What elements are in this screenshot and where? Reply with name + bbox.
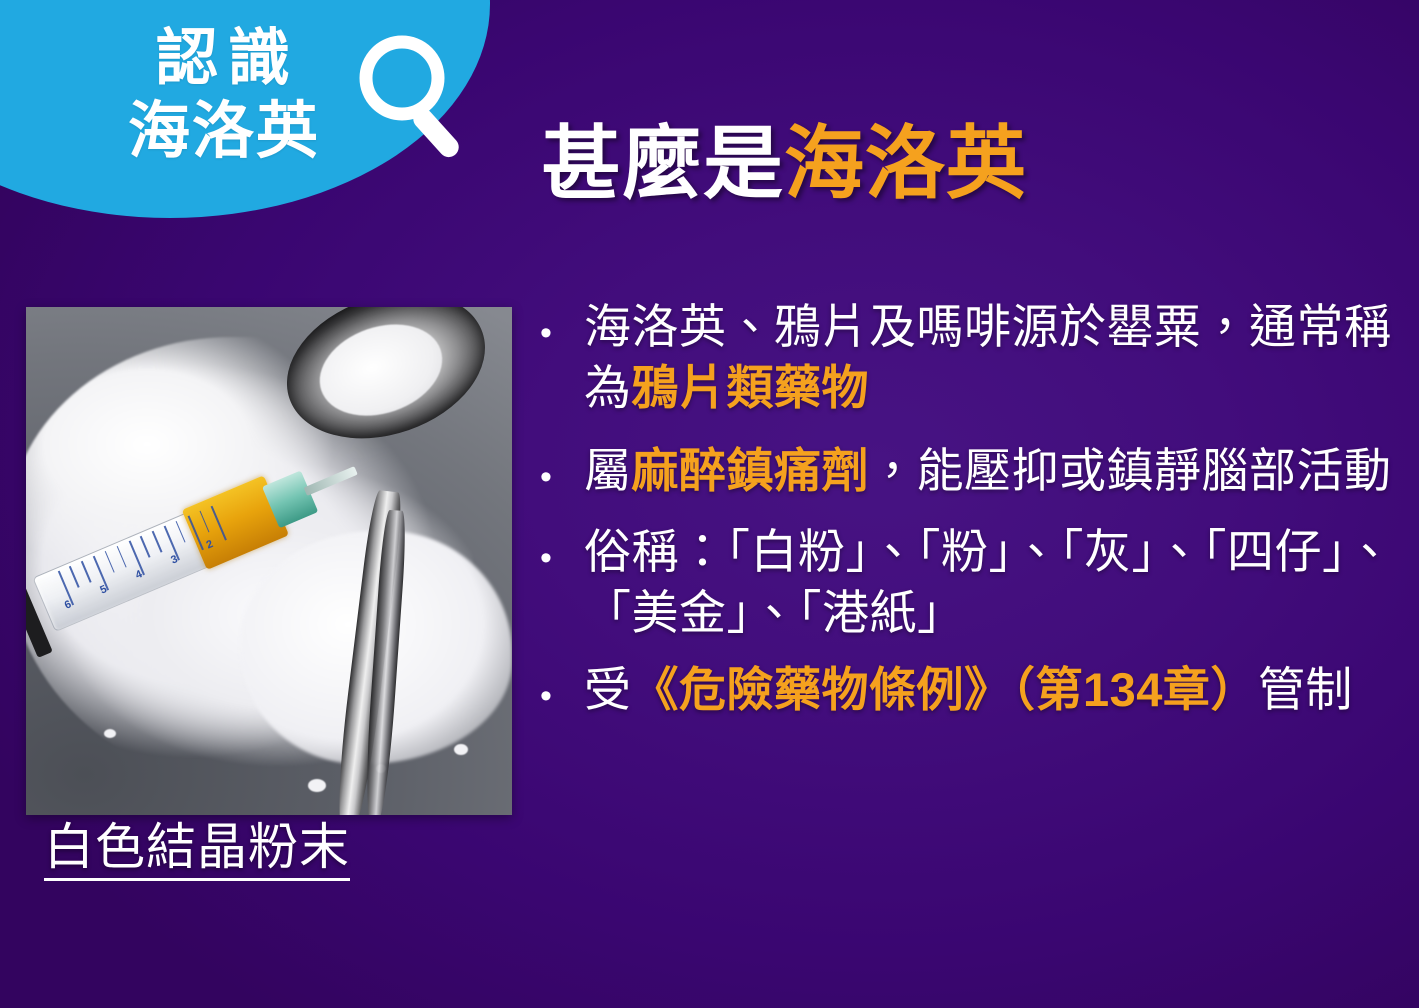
bullet-segment: 管制 xyxy=(1258,663,1353,716)
list-item: • 俗稱：「白粉」、「粉」、「灰」、「四仔」、「美金」、「港紙」 xyxy=(540,521,1402,643)
bullet-text: 俗稱：「白粉」、「粉」、「灰」、「四仔」、「美金」、「港紙」 xyxy=(584,521,1402,643)
heroin-photo: 6 5 4 3 2 xyxy=(26,307,512,815)
page-title: 甚麼是海洛英 xyxy=(541,122,1027,205)
bullet-segment: 俗稱：「白粉」、「粉」、「灰」、「四仔」、「美金」、「港紙」 xyxy=(584,525,1394,639)
bullet-marker: • xyxy=(540,296,584,350)
bullet-segment: 受 xyxy=(584,663,632,716)
badge-label-line2: 海洛英 xyxy=(104,95,344,168)
slide-root: 認識 海洛英 甚麼是海洛英 xyxy=(0,0,1419,1008)
page-title-highlight: 海洛英 xyxy=(784,119,1027,208)
magnifier-icon xyxy=(344,26,494,176)
powder-crumb xyxy=(454,744,468,755)
list-item: • 屬麻醉鎮痛劑，能壓抑或鎮靜腦部活動 xyxy=(540,440,1402,501)
bullet-segment: ，能壓抑或鎮靜腦部活動 xyxy=(869,444,1392,497)
bullet-text: 受《危險藥物條例》（第134章）管制 xyxy=(584,659,1402,720)
bullet-segment-highlight: 鴉片類藥物 xyxy=(632,361,870,414)
bullet-marker: • xyxy=(540,659,584,713)
list-item: • 受《危險藥物條例》（第134章）管制 xyxy=(540,659,1402,720)
bullet-text: 屬麻醉鎮痛劑，能壓抑或鎮靜腦部活動 xyxy=(584,440,1402,501)
badge-label: 認識 海洛英 xyxy=(104,22,344,168)
bullet-segment-highlight: 《危險藥物條例》（第134章） xyxy=(632,663,1258,716)
bullet-marker: • xyxy=(540,440,584,494)
powder-crumb xyxy=(104,729,116,738)
bullet-segment-highlight: 麻醉鎮痛劑 xyxy=(632,444,870,497)
bullet-segment: 屬 xyxy=(584,444,632,497)
badge-label-line1: 認識 xyxy=(104,22,344,95)
bullet-list: • 海洛英、鴉片及嗎啡源於罌粟，通常稱為鴉片類藥物 • 屬麻醉鎮痛劑，能壓抑或鎮… xyxy=(540,296,1402,739)
photo-caption: 白色結晶粉末 xyxy=(44,820,350,881)
page-title-plain: 甚麼是 xyxy=(541,119,784,208)
list-item: • 海洛英、鴉片及嗎啡源於罌粟，通常稱為鴉片類藥物 xyxy=(540,296,1402,418)
bullet-text: 海洛英、鴉片及嗎啡源於罌粟，通常稱為鴉片類藥物 xyxy=(584,296,1402,418)
bullet-marker: • xyxy=(540,521,584,575)
